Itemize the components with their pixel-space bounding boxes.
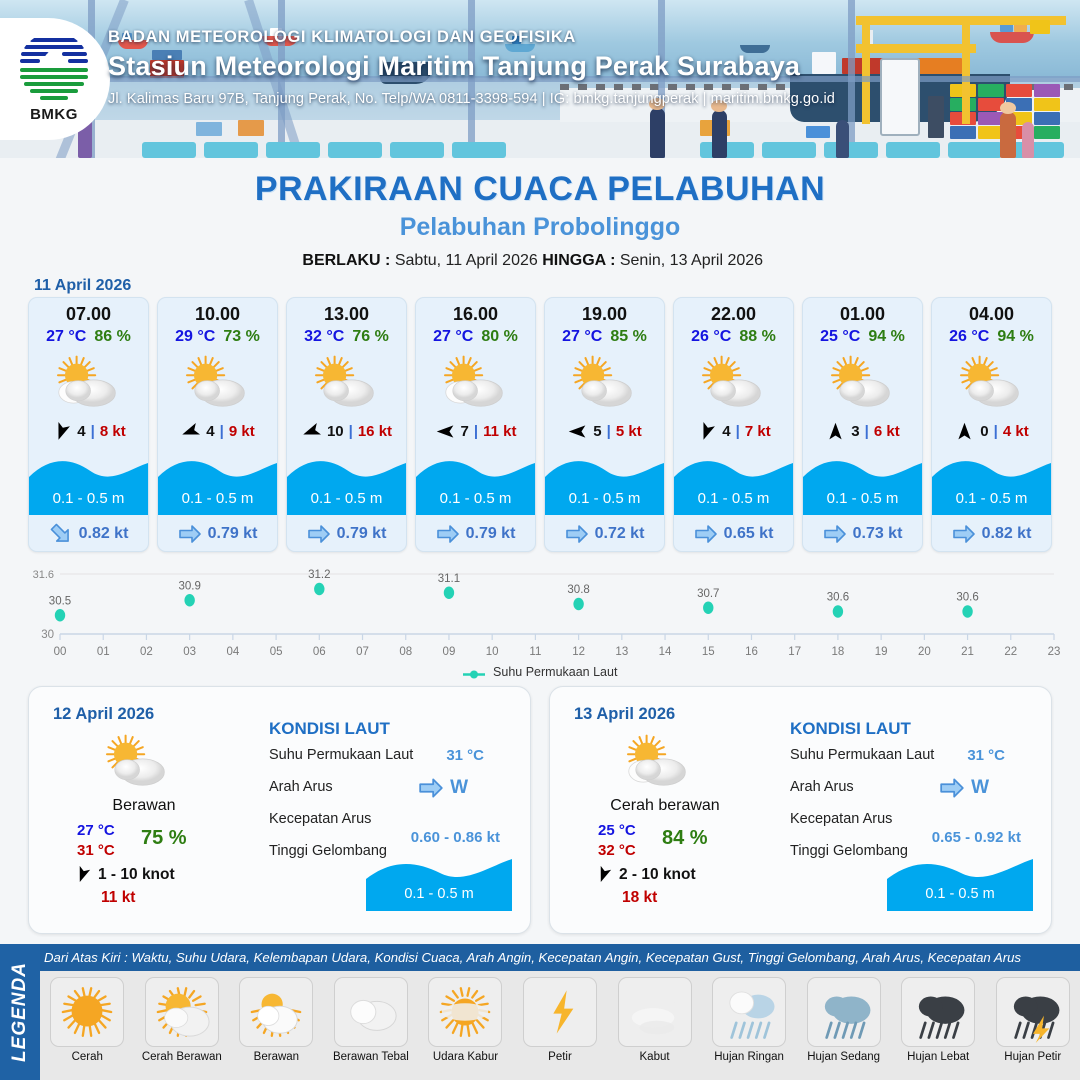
cloud-sun-small-icon xyxy=(239,977,313,1047)
day-temperature-range: 25 °C 32 °C xyxy=(598,821,636,861)
svg-text:05: 05 xyxy=(270,646,283,658)
daily-forecast-panels: 12 April 2026 Berawan 27 °C 31 °C 75 % 1… xyxy=(28,686,1052,934)
hourly-forecast-card: 22.00 26 °C 88 % 4 | 7 kt xyxy=(673,297,794,552)
card-wave-height: 0.1 - 0.5 m xyxy=(674,490,793,507)
card-wind-speed: 4 xyxy=(206,423,214,440)
header-address-contact: Jl. Kalimas Baru 97B, Tanjung Perak, No.… xyxy=(108,91,1028,107)
svg-text:16: 16 xyxy=(745,646,758,658)
legend-item: Hujan Sedang xyxy=(796,971,891,1080)
current-direction-arrow-icon xyxy=(694,522,718,546)
day-wave-graphic: 0.1 - 0.5 m xyxy=(366,853,512,911)
card-gust-speed: 7 kt xyxy=(745,423,771,440)
card-wave-graphic: 0.1 - 0.5 m xyxy=(674,455,793,515)
light-rain-icon xyxy=(712,977,786,1047)
sea-row-value-sst: 31 °C xyxy=(446,747,484,764)
card-current-row: 0.79 kt xyxy=(416,517,535,551)
svg-text:11: 11 xyxy=(529,646,541,658)
thunderstorm-icon xyxy=(996,977,1070,1047)
svg-text:21: 21 xyxy=(961,646,974,658)
wind-separator: | xyxy=(474,423,478,440)
sea-current-direction-group: W xyxy=(418,775,468,801)
sea-row-label-current-direction: Arah Arus xyxy=(269,779,333,795)
legend-item-label: Cerah Berawan xyxy=(135,1051,230,1063)
wind-direction-arrow-icon xyxy=(51,421,72,442)
wind-direction-arrow-icon xyxy=(301,421,322,442)
wind-direction-arrow-icon xyxy=(567,421,588,442)
sun-icon xyxy=(50,977,124,1047)
weather-berawan-icon xyxy=(932,350,1051,416)
day-temp-min: 27 °C xyxy=(77,821,115,841)
card-gust-speed: 5 kt xyxy=(616,423,642,440)
card-wave-graphic: 0.1 - 0.5 m xyxy=(932,455,1051,515)
card-wind-speed: 10 xyxy=(327,423,344,440)
legend-item: Petir xyxy=(513,971,608,1080)
legend-item-label: Hujan Petir xyxy=(985,1051,1080,1063)
svg-text:18: 18 xyxy=(832,646,845,658)
sea-row-value-current-speed: 0.60 - 0.86 kt xyxy=(411,829,500,846)
card-time: 10.00 xyxy=(158,304,277,325)
card-wind-row: 4 | 9 kt xyxy=(158,416,277,446)
page-subtitle: Pelabuhan Probolinggo xyxy=(0,213,1080,242)
card-temperature: 27 °C xyxy=(562,328,602,346)
header-organization: BADAN METEOROLOGI KLIMATOLOGI DAN GEOFIS… xyxy=(108,28,1028,47)
wind-direction-arrow-icon xyxy=(594,865,613,884)
card-wave-height: 0.1 - 0.5 m xyxy=(29,490,148,507)
card-wave-height: 0.1 - 0.5 m xyxy=(545,490,664,507)
card-wind-speed: 3 xyxy=(851,423,859,440)
wind-separator: | xyxy=(607,423,611,440)
card-current-row: 0.82 kt xyxy=(29,517,148,551)
svg-text:19: 19 xyxy=(875,646,888,658)
weather-berawan-icon xyxy=(158,350,277,416)
card-current-speed: 0.72 kt xyxy=(595,525,645,543)
svg-text:06: 06 xyxy=(313,646,326,658)
card-humidity: 73 % xyxy=(223,328,259,346)
card-gust-speed: 6 kt xyxy=(874,423,900,440)
sea-row-value-sst: 31 °C xyxy=(967,747,1005,764)
current-direction-arrow-icon xyxy=(418,775,444,801)
card-gust-speed: 11 kt xyxy=(483,423,516,440)
svg-text:15: 15 xyxy=(702,646,715,658)
sea-row-label-sst: Suhu Permukaan Laut xyxy=(269,747,413,763)
header-station-name: Stasiun Meteorologi Maritim Tanjung Pera… xyxy=(108,51,1028,82)
svg-text:02: 02 xyxy=(140,646,153,658)
sea-conditions-title: KONDISI LAUT xyxy=(790,719,911,739)
svg-text:12: 12 xyxy=(572,646,585,658)
card-current-speed: 0.73 kt xyxy=(853,525,903,543)
legend-item: Berawan xyxy=(229,971,324,1080)
day-wave-height: 0.1 - 0.5 m xyxy=(366,886,512,902)
svg-text:31.2: 31.2 xyxy=(308,569,330,581)
wind-separator: | xyxy=(994,423,998,440)
day-gust: 18 kt xyxy=(622,889,657,907)
card-current-row: 0.79 kt xyxy=(158,517,277,551)
card-time: 01.00 xyxy=(803,304,922,325)
card-wind-row: 10 | 16 kt xyxy=(287,416,406,446)
svg-text:31.1: 31.1 xyxy=(438,573,460,585)
card-wave-height: 0.1 - 0.5 m xyxy=(416,490,535,507)
current-direction-arrow-icon xyxy=(565,522,589,546)
sun-cloud-icon xyxy=(145,977,219,1047)
card-temperature: 26 °C xyxy=(691,328,731,346)
svg-text:30.5: 30.5 xyxy=(49,595,71,607)
day-wind-row: 2 - 10 knot xyxy=(594,865,696,884)
legend-item-label: Hujan Ringan xyxy=(702,1051,797,1063)
card-temperature: 29 °C xyxy=(175,328,215,346)
hourly-forecast-card: 01.00 25 °C 94 % 3 | 6 kt xyxy=(802,297,923,552)
heavy-rain-icon xyxy=(901,977,975,1047)
svg-text:03: 03 xyxy=(183,646,196,658)
day-wave-height: 0.1 - 0.5 m xyxy=(887,886,1033,902)
card-wave-height: 0.1 - 0.5 m xyxy=(287,490,406,507)
legend-item-label: Hujan Sedang xyxy=(796,1051,891,1063)
day-temp-max: 31 °C xyxy=(77,841,115,861)
hourly-forecast-card: 07.00 27 °C 86 % 4 | 8 kt xyxy=(28,297,149,552)
day-date: 13 April 2026 xyxy=(574,705,675,724)
moderate-rain-icon xyxy=(807,977,881,1047)
card-wind-speed: 0 xyxy=(980,423,988,440)
svg-text:00: 00 xyxy=(54,646,67,658)
current-direction-arrow-icon xyxy=(823,522,847,546)
fog-icon xyxy=(618,977,692,1047)
sea-row-label-current-speed: Kecepatan Arus xyxy=(790,811,892,827)
sea-conditions-title: KONDISI LAUT xyxy=(269,719,390,739)
card-wind-row: 0 | 4 kt xyxy=(932,416,1051,446)
svg-text:13: 13 xyxy=(615,646,628,658)
day-date: 12 April 2026 xyxy=(53,705,154,724)
valid-until-value: Senin, 13 April 2026 xyxy=(620,252,763,269)
card-current-row: 0.82 kt xyxy=(932,517,1051,551)
legend-sidebar: LEGENDA xyxy=(0,944,40,1080)
svg-text:08: 08 xyxy=(399,646,412,658)
sea-row-label-sst: Suhu Permukaan Laut xyxy=(790,747,934,763)
weather-berawan-icon xyxy=(287,350,406,416)
card-gust-speed: 16 kt xyxy=(358,423,392,440)
legend-icon-strip: Cerah Cerah Berawan Berawan Berawan Teba… xyxy=(40,971,1080,1080)
day-temp-max: 32 °C xyxy=(598,841,636,861)
card-current-speed: 0.82 kt xyxy=(982,525,1032,543)
card-current-row: 0.73 kt xyxy=(803,517,922,551)
daily-forecast-panel: 13 April 2026 Cerah berawan 25 °C 32 °C … xyxy=(549,686,1052,934)
svg-text:30: 30 xyxy=(41,629,54,641)
legend-item-label: Berawan Tebal xyxy=(324,1051,419,1063)
svg-text:30.8: 30.8 xyxy=(567,584,589,596)
current-direction-arrow-icon xyxy=(178,522,202,546)
card-time: 04.00 xyxy=(932,304,1051,325)
legend-item-label: Hujan Lebat xyxy=(891,1051,986,1063)
svg-text:04: 04 xyxy=(226,646,239,658)
hourly-forecast-card: 04.00 26 °C 94 % 0 | 4 kt xyxy=(931,297,1052,552)
valid-from-label: BERLAKU : xyxy=(302,252,390,269)
card-humidity: 88 % xyxy=(739,328,775,346)
day-wind-row: 1 - 10 knot xyxy=(73,865,175,884)
lightning-icon xyxy=(523,977,597,1047)
card-wave-graphic: 0.1 - 0.5 m xyxy=(287,455,406,515)
day-humidity: 75 % xyxy=(141,827,187,850)
legend-sidebar-label: LEGENDA xyxy=(9,962,31,1062)
sea-row-label-current-speed: Kecepatan Arus xyxy=(269,811,371,827)
wind-direction-arrow-icon xyxy=(435,421,456,442)
card-wave-graphic: 0.1 - 0.5 m xyxy=(545,455,664,515)
card-humidity: 80 % xyxy=(481,328,517,346)
svg-text:30.6: 30.6 xyxy=(827,592,849,604)
sea-row-value-current-direction: W xyxy=(971,777,989,799)
card-wind-speed: 4 xyxy=(722,423,730,440)
weather-berawan-icon xyxy=(674,350,793,416)
legend-item: Hujan Ringan xyxy=(702,971,797,1080)
svg-text:30.6: 30.6 xyxy=(956,592,978,604)
card-humidity: 85 % xyxy=(610,328,646,346)
bmkg-logo-text: BMKG xyxy=(12,106,96,123)
valid-until-label: HINGGA : xyxy=(542,252,615,269)
wind-separator: | xyxy=(736,423,740,440)
hourly-forecast-card: 19.00 27 °C 85 % 5 | 5 kt xyxy=(544,297,665,552)
page-title: PRAKIRAAN CUACA PELABUHAN xyxy=(0,170,1080,209)
hourly-forecast-card: 13.00 32 °C 76 % 10 | 16 kt xyxy=(286,297,407,552)
current-direction-arrow-icon xyxy=(952,522,976,546)
day-temperature-range: 27 °C 31 °C xyxy=(77,821,115,861)
card-wind-speed: 4 xyxy=(77,423,85,440)
wind-direction-arrow-icon xyxy=(180,421,201,442)
card-wave-graphic: 0.1 - 0.5 m xyxy=(158,455,277,515)
card-humidity: 94 % xyxy=(997,328,1033,346)
svg-text:23: 23 xyxy=(1048,646,1061,658)
card-gust-speed: 4 kt xyxy=(1003,423,1029,440)
card-wave-graphic: 0.1 - 0.5 m xyxy=(803,455,922,515)
current-direction-arrow-icon xyxy=(436,522,460,546)
sea-surface-temperature-chart: 31.6300001020304050607080910111213141516… xyxy=(14,560,1066,680)
sea-row-label-current-direction: Arah Arus xyxy=(790,779,854,795)
card-current-speed: 0.79 kt xyxy=(466,525,516,543)
card-wave-height: 0.1 - 0.5 m xyxy=(803,490,922,507)
card-current-speed: 0.65 kt xyxy=(724,525,774,543)
validity-row: BERLAKU : Sabtu, 11 April 2026 HINGGA : … xyxy=(0,252,1080,270)
card-time: 16.00 xyxy=(416,304,535,325)
card-wind-speed: 5 xyxy=(593,423,601,440)
card-wind-row: 5 | 5 kt xyxy=(545,416,664,446)
legend-item-label: Petir xyxy=(513,1051,608,1063)
svg-text:01: 01 xyxy=(97,646,110,658)
legend-note: Dari Atas Kiri : Waktu, Suhu Udara, Kele… xyxy=(44,950,1074,965)
current-direction-arrow-icon xyxy=(939,775,965,801)
card-current-row: 0.72 kt xyxy=(545,517,664,551)
svg-text:30.9: 30.9 xyxy=(178,580,200,592)
svg-text:30.7: 30.7 xyxy=(697,588,719,600)
card-temperature: 27 °C xyxy=(46,328,86,346)
sea-row-value-current-direction: W xyxy=(450,777,468,799)
card-time: 13.00 xyxy=(287,304,406,325)
day-wind-range: 2 - 10 knot xyxy=(619,866,696,884)
legend-item-label: Berawan xyxy=(229,1051,324,1063)
card-current-row: 0.79 kt xyxy=(287,517,406,551)
hourly-forecast-card: 10.00 29 °C 73 % 4 | 9 kt xyxy=(157,297,278,552)
chart-legend: Suhu Permukaan Laut xyxy=(0,665,1080,679)
weather-cerah-berawan-icon xyxy=(29,350,148,416)
card-current-row: 0.65 kt xyxy=(674,517,793,551)
legend-item-label: Kabut xyxy=(607,1051,702,1063)
wind-separator: | xyxy=(91,423,95,440)
wind-separator: | xyxy=(220,423,224,440)
day-wind-range: 1 - 10 knot xyxy=(98,866,175,884)
page-title-block: PRAKIRAAN CUACA PELABUHAN Pelabuhan Prob… xyxy=(0,170,1080,242)
card-time: 22.00 xyxy=(674,304,793,325)
svg-text:20: 20 xyxy=(918,646,931,658)
card-current-speed: 0.79 kt xyxy=(337,525,387,543)
wind-direction-arrow-icon xyxy=(696,421,717,442)
card-temperature: 27 °C xyxy=(433,328,473,346)
card-wind-row: 3 | 6 kt xyxy=(803,416,922,446)
svg-text:17: 17 xyxy=(788,646,801,658)
svg-text:09: 09 xyxy=(443,646,456,658)
day-temp-min: 25 °C xyxy=(598,821,636,841)
legend-item: Hujan Lebat xyxy=(891,971,986,1080)
weather-berawan-icon xyxy=(95,731,181,793)
sea-current-direction-group: W xyxy=(939,775,989,801)
legend-item: Cerah xyxy=(40,971,135,1080)
svg-text:22: 22 xyxy=(1004,646,1017,658)
legend-item-label: Cerah xyxy=(40,1051,135,1063)
card-gust-speed: 8 kt xyxy=(100,423,126,440)
card-wave-height: 0.1 - 0.5 m xyxy=(158,490,277,507)
card-time: 19.00 xyxy=(545,304,664,325)
card-gust-speed: 9 kt xyxy=(229,423,255,440)
card-current-speed: 0.82 kt xyxy=(79,525,129,543)
current-direction-arrow-icon xyxy=(307,522,331,546)
svg-text:07: 07 xyxy=(356,646,369,658)
card-temperature: 25 °C xyxy=(820,328,860,346)
card-time: 07.00 xyxy=(29,304,148,325)
legend-section: LEGENDA Dari Atas Kiri : Waktu, Suhu Uda… xyxy=(0,944,1080,1080)
legend-item-label: Udara Kabur xyxy=(418,1051,513,1063)
card-wave-graphic: 0.1 - 0.5 m xyxy=(416,455,535,515)
header-banner: BMKG BADAN METEOROLOGI KLIMATOLOGI DAN G… xyxy=(0,0,1080,158)
wind-separator: | xyxy=(349,423,353,440)
card-temperature: 32 °C xyxy=(304,328,344,346)
hourly-forecast-row: 07.00 27 °C 86 % 4 | 8 kt xyxy=(28,297,1052,552)
day-gust: 11 kt xyxy=(101,889,135,907)
weather-cerah-berawan-icon xyxy=(416,350,535,416)
daily-forecast-panel: 12 April 2026 Berawan 27 °C 31 °C 75 % 1… xyxy=(28,686,531,934)
card-humidity: 86 % xyxy=(94,328,130,346)
legend-item: Cerah Berawan xyxy=(135,971,230,1080)
legend-item: Berawan Tebal xyxy=(324,971,419,1080)
card-wind-row: 4 | 8 kt xyxy=(29,416,148,446)
svg-text:14: 14 xyxy=(659,646,672,658)
chart-legend-marker xyxy=(463,668,485,677)
current-direction-arrow-icon xyxy=(49,522,73,546)
legend-item: Kabut xyxy=(607,971,702,1080)
card-wind-speed: 7 xyxy=(461,423,469,440)
legend-item: Hujan Petir xyxy=(985,971,1080,1080)
wind-direction-arrow-icon xyxy=(954,421,975,442)
wind-separator: | xyxy=(865,423,869,440)
bmkg-logo: BMKG xyxy=(12,32,96,128)
wind-direction-arrow-icon xyxy=(825,421,846,442)
haze-icon xyxy=(428,977,502,1047)
hourly-forecast-card: 16.00 27 °C 80 % 7 | 11 kt xyxy=(415,297,536,552)
card-wind-row: 4 | 7 kt xyxy=(674,416,793,446)
valid-from-value: Sabtu, 11 April 2026 xyxy=(395,252,538,269)
card-current-speed: 0.79 kt xyxy=(208,525,258,543)
svg-text:31.6: 31.6 xyxy=(33,569,54,581)
card-humidity: 94 % xyxy=(868,328,904,346)
hourly-date-label: 11 April 2026 xyxy=(34,277,131,295)
weather-berawan-icon xyxy=(803,350,922,416)
day-wave-graphic: 0.1 - 0.5 m xyxy=(887,853,1033,911)
weather-berawan-icon xyxy=(545,350,664,416)
day-condition: Berawan xyxy=(29,797,259,815)
card-wave-graphic: 0.1 - 0.5 m xyxy=(29,455,148,515)
day-humidity: 84 % xyxy=(662,827,708,850)
card-humidity: 76 % xyxy=(352,328,388,346)
card-wind-row: 7 | 11 kt xyxy=(416,416,535,446)
thick-cloud-icon xyxy=(334,977,408,1047)
header-text-block: BADAN METEOROLOGI KLIMATOLOGI DAN GEOFIS… xyxy=(108,28,1028,107)
bmkg-logo-mark xyxy=(18,32,90,104)
legend-item: Udara Kabur xyxy=(418,971,513,1080)
wind-direction-arrow-icon xyxy=(73,865,92,884)
svg-text:10: 10 xyxy=(486,646,499,658)
weather-cerah-berawan-icon xyxy=(616,731,702,793)
sea-row-value-current-speed: 0.65 - 0.92 kt xyxy=(932,829,1021,846)
card-temperature: 26 °C xyxy=(949,328,989,346)
day-condition: Cerah berawan xyxy=(550,797,780,815)
chart-legend-label: Suhu Permukaan Laut xyxy=(493,665,617,679)
card-wave-height: 0.1 - 0.5 m xyxy=(932,490,1051,507)
